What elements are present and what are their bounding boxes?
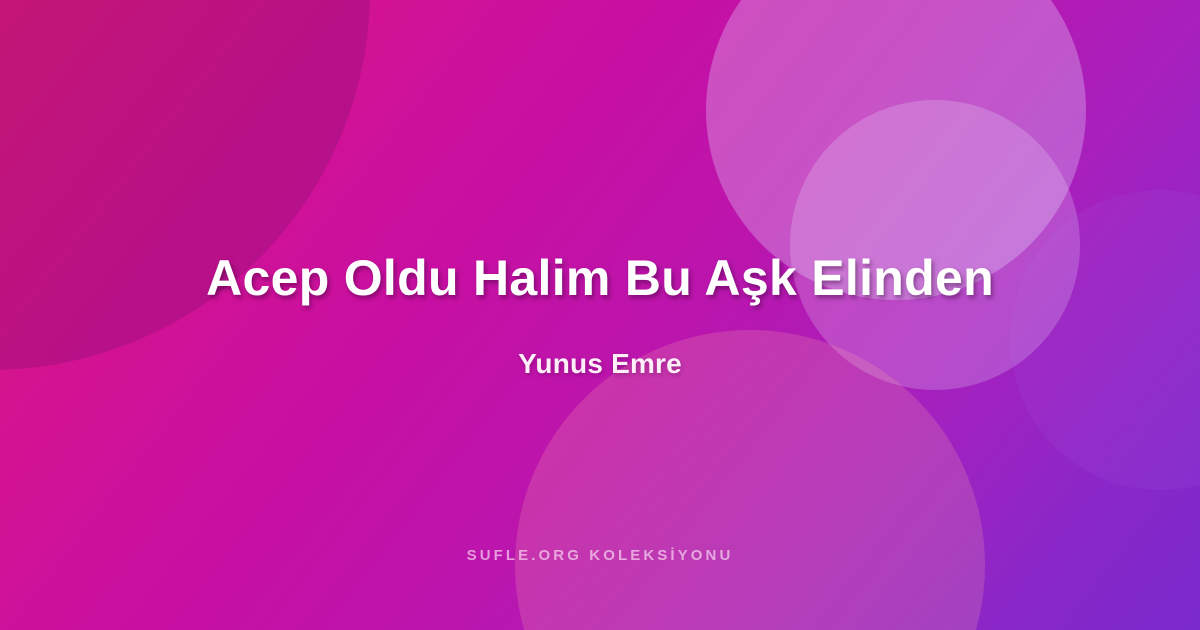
- poem-author: Yunus Emre: [518, 348, 682, 380]
- site-credit: SUFLE.ORG KOLEKSİYONU: [0, 547, 1200, 564]
- card-content: Acep Oldu Halim Bu Aşk Elinden Yunus Emr…: [0, 0, 1200, 630]
- poem-share-card: Acep Oldu Halim Bu Aşk Elinden Yunus Emr…: [0, 0, 1200, 630]
- poem-title: Acep Oldu Halim Bu Aşk Elinden: [206, 250, 994, 306]
